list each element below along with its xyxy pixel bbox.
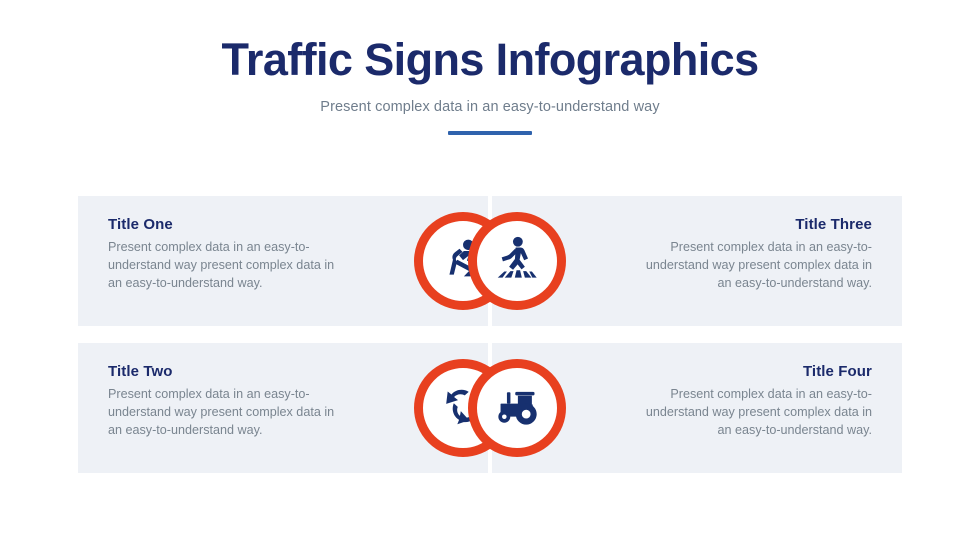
tractor-icon	[468, 359, 566, 457]
card-text-block: Title Two Present complex data in an eas…	[108, 363, 351, 440]
accent-divider	[448, 131, 532, 135]
card-body: Present complex data in an easy-to-under…	[108, 386, 351, 440]
card-body: Present complex data in an easy-to-under…	[629, 386, 872, 440]
card-grid: Title One Present complex data in an eas…	[78, 196, 902, 484]
card-text-block: Title One Present complex data in an eas…	[108, 216, 351, 293]
card-body: Present complex data in an easy-to-under…	[629, 239, 872, 293]
card-title-four[interactable]: Title Four Present complex data in an ea…	[492, 343, 902, 473]
slide-canvas: Traffic Signs Infographics Present compl…	[0, 0, 980, 551]
card-title-one[interactable]: Title One Present complex data in an eas…	[78, 196, 488, 326]
page-title: Traffic Signs Infographics	[0, 36, 980, 85]
card-body: Present complex data in an easy-to-under…	[108, 239, 351, 293]
card-text-block: Title Four Present complex data in an ea…	[629, 363, 872, 440]
card-title-three[interactable]: Title Three Present complex data in an e…	[492, 196, 902, 326]
card-title: Title One	[108, 216, 351, 233]
card-title: Title Four	[629, 363, 872, 380]
pedestrian-crossing-icon	[468, 212, 566, 310]
header: Traffic Signs Infographics Present compl…	[0, 36, 980, 135]
card-title: Title Three	[629, 216, 872, 233]
page-subtitle: Present complex data in an easy-to-under…	[0, 99, 980, 115]
card-title-two[interactable]: Title Two Present complex data in an eas…	[78, 343, 488, 473]
card-title: Title Two	[108, 363, 351, 380]
card-text-block: Title Three Present complex data in an e…	[629, 216, 872, 293]
